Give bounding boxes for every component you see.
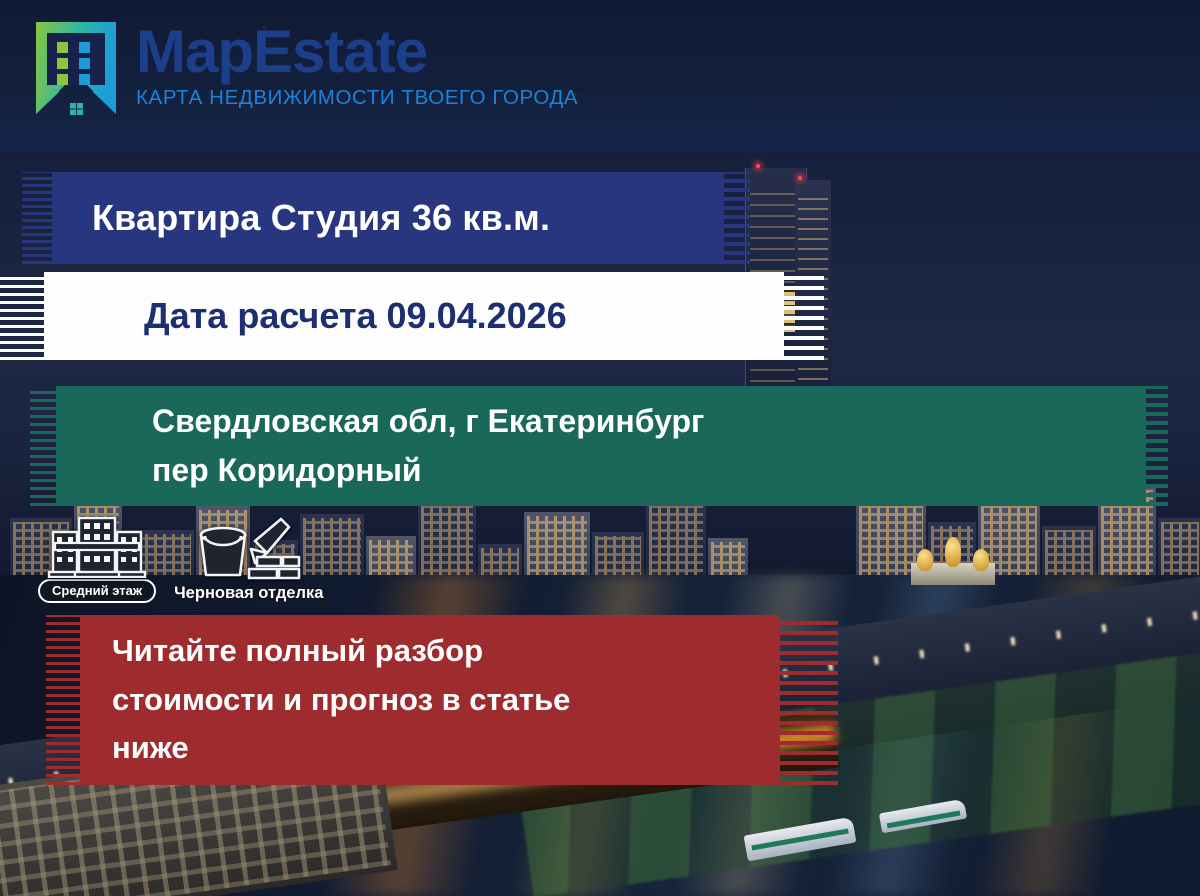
cta-line-3: ниже xyxy=(80,724,780,773)
cta-line-1: Читайте полный разбор xyxy=(80,627,780,676)
address-line-2: пер Коридорный xyxy=(56,446,1146,495)
church-building xyxy=(905,515,1001,585)
cta-band: Читайте полный разбор стоимости и прогно… xyxy=(80,615,780,785)
cta-line-2: стоимости и прогноз в статье xyxy=(80,676,780,725)
calculation-date-band: Дата расчета 09.04.2026 xyxy=(44,272,784,360)
feature-badges: Средний этаж Черновая отделка xyxy=(38,512,323,603)
address-line-1: Свердловская обл, г Екатеринбург xyxy=(56,397,1146,446)
logo[interactable]: MapEstate КАРТА НЕДВИЖИМОСТИ ТВОЕГО ГОРО… xyxy=(30,18,578,123)
bookmark-building-logo-icon xyxy=(30,18,122,123)
calculation-date-text: Дата расчета 09.04.2026 xyxy=(44,295,784,337)
building-floors-icon xyxy=(47,512,147,583)
tower-beacon-light xyxy=(756,164,760,168)
paint-bucket-trowel-bricks-icon xyxy=(193,513,305,586)
brand-name: MapEstate xyxy=(136,22,578,82)
address-band: Свердловская обл, г Екатеринбург пер Кор… xyxy=(56,386,1146,506)
feature-finish-label: Черновая отделка xyxy=(174,584,323,603)
feature-floor: Средний этаж xyxy=(38,512,156,603)
site-header: MapEstate КАРТА НЕДВИЖИМОСТИ ТВОЕГО ГОРО… xyxy=(0,0,1200,152)
brand-tagline: КАРТА НЕДВИЖИМОСТИ ТВОЕГО ГОРОДА xyxy=(136,86,578,110)
property-title-text: Квартира Студия 36 кв.м. xyxy=(52,197,724,239)
property-title-band: Квартира Студия 36 кв.м. xyxy=(52,172,724,264)
tower-beacon-light xyxy=(798,176,802,180)
feature-finish: Черновая отделка xyxy=(174,513,323,603)
